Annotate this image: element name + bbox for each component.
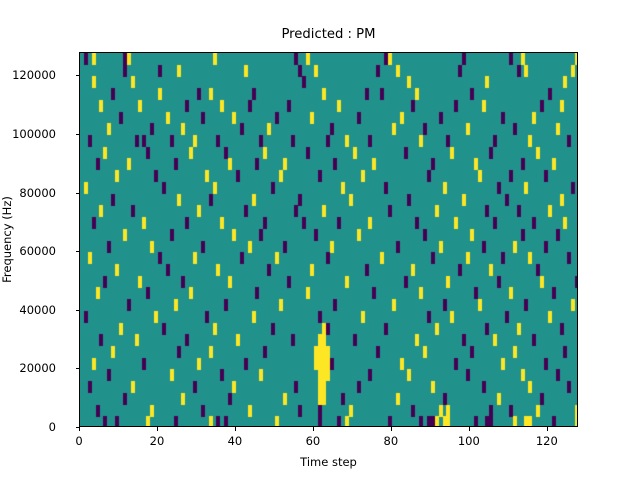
y-tick-label: 20000	[0, 361, 56, 375]
x-axis-label: Time step	[79, 455, 578, 469]
y-tick-label: 80000	[0, 186, 56, 200]
x-tick-label: 40	[228, 434, 243, 448]
page-title: Predicted : PM	[79, 27, 578, 43]
heatmap-plot-area[interactable]	[79, 52, 578, 427]
x-tick-mark	[79, 427, 80, 431]
y-tick-mark	[76, 193, 80, 194]
x-tick-mark	[313, 427, 314, 431]
x-tick-label: 60	[306, 434, 321, 448]
x-tick-mark	[469, 427, 470, 431]
y-tick-mark	[76, 251, 80, 252]
x-tick-mark	[157, 427, 158, 431]
x-tick-label: 20	[150, 434, 165, 448]
y-tick-mark	[76, 75, 80, 76]
x-tick-label: 0	[75, 434, 82, 448]
y-tick-mark	[76, 310, 80, 311]
y-tick-mark	[76, 368, 80, 369]
x-tick-label: 80	[384, 434, 399, 448]
matplotlib-figure: Predicted : PM Time step Frequency (Hz) …	[0, 0, 640, 480]
x-tick-label: 100	[458, 434, 480, 448]
y-tick-label: 120000	[0, 68, 56, 82]
x-tick-mark	[547, 427, 548, 431]
y-tick-label: 100000	[0, 127, 56, 141]
x-tick-mark	[391, 427, 392, 431]
y-tick-label: 40000	[0, 303, 56, 317]
y-tick-mark	[76, 427, 80, 428]
y-tick-label: 0	[0, 420, 56, 434]
x-tick-mark	[235, 427, 236, 431]
x-tick-label: 120	[536, 434, 558, 448]
y-tick-label: 60000	[0, 244, 56, 258]
y-tick-mark	[76, 134, 80, 135]
heatmap-image[interactable]	[80, 53, 578, 427]
